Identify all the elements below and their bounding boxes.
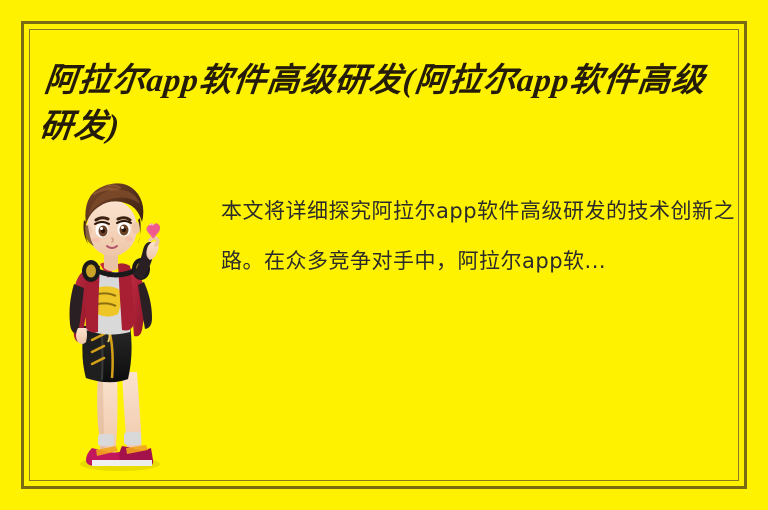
anime-boy-avatar (58, 176, 176, 472)
article-summary: 本文将详细探究阿拉尔app软件高级研发的技术创新之路。在众多竞争对手中，阿拉尔a… (221, 186, 740, 286)
page-title: 阿拉尔app软件高级研发(阿拉尔app软件高级研发) (37, 58, 737, 150)
article-card: 阿拉尔app软件高级研发(阿拉尔app软件高级研发) (0, 0, 768, 510)
